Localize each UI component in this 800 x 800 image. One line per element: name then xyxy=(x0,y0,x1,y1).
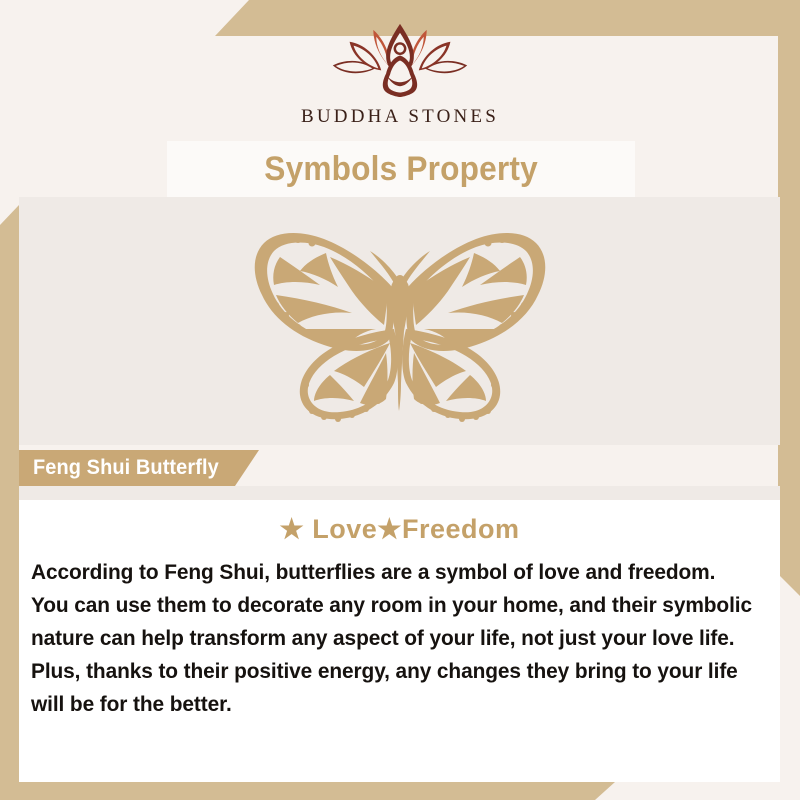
lotus-meditation-icon xyxy=(325,18,475,102)
banner-gap-spacer xyxy=(19,486,780,500)
description-card: ★ Love★Freedom According to Feng Shui, b… xyxy=(19,500,780,782)
product-info-graphic: BUDDHA STONES Symbols Property xyxy=(0,0,800,800)
description-paragraph: According to Feng Shui, butterflies are … xyxy=(31,556,757,721)
brand-name: BUDDHA STONES xyxy=(301,106,499,128)
decorative-bottom-band xyxy=(0,782,615,800)
artwork-caption-banner: Feng Shui Butterfly xyxy=(19,450,259,486)
artwork-panel xyxy=(19,197,780,445)
artwork-caption-label: Feng Shui Butterfly xyxy=(33,456,219,480)
title-bar: Symbols Property xyxy=(167,141,635,197)
decorative-left-band xyxy=(0,205,19,800)
brand-header: BUDDHA STONES xyxy=(0,0,800,141)
page-title: Symbols Property xyxy=(264,150,538,189)
keywords-subtitle: ★ Love★Freedom xyxy=(31,514,768,545)
butterfly-icon xyxy=(220,213,580,429)
